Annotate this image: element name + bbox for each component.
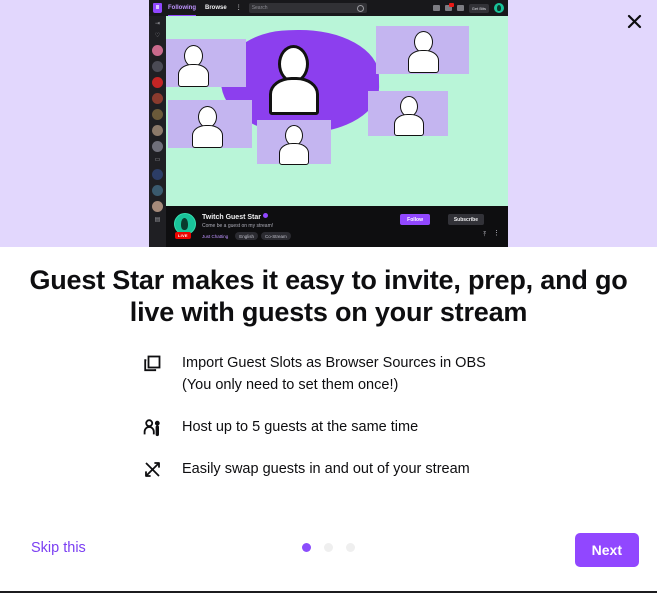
channel-name-text: Twitch Guest Star: [202, 214, 261, 221]
guest-slot: [168, 100, 252, 148]
preview-nav-following: Following: [168, 5, 196, 11]
stream-tags: Just Chatting English Co-Stream: [202, 232, 291, 240]
feature-text: Easily swap guests in and out of your st…: [182, 461, 470, 477]
sidebar-avatar: [152, 109, 163, 120]
list-item: Easily swap guests in and out of your st…: [140, 458, 540, 480]
host-avatar-silhouette: [266, 34, 336, 114]
swap-icon: [140, 458, 164, 479]
preview-nav-actions: Get Bits: [433, 3, 504, 13]
pagination-dots: [0, 543, 657, 552]
guest-slot: [166, 39, 246, 87]
people-icon: [140, 416, 164, 437]
sidebar-avatar: [152, 77, 163, 88]
stream-category: Just Chatting: [202, 232, 232, 240]
preview-nav-overflow-icon: ⋮: [236, 6, 242, 11]
next-button[interactable]: Next: [575, 533, 639, 567]
preview-channel-info: LIVE Twitch Guest Star Come be a guest o…: [166, 206, 508, 247]
live-badge: LIVE: [175, 232, 191, 239]
stream-tag: English: [235, 232, 258, 240]
sidebar-avatar: [152, 125, 163, 136]
guest-avatar-silhouette: [166, 39, 246, 87]
video-icon: ▭: [153, 157, 162, 164]
sidebar-avatar: [152, 45, 163, 56]
sidebar-avatar: [152, 93, 163, 104]
stream-preview-image: Following Browse ⋮ Search Get Bits ⇥ ♡: [149, 0, 508, 247]
follow-button: Follow: [400, 214, 430, 225]
page-title: Guest Star makes it easy to invite, prep…: [28, 264, 629, 328]
stream-title: Come be a guest on my stream!: [202, 223, 273, 229]
preview-search-placeholder: Search: [252, 5, 357, 11]
guest-avatar-silhouette: [368, 91, 448, 136]
preview-stream-canvas: [166, 16, 508, 206]
pagination-dot-1[interactable]: [302, 543, 311, 552]
guest-avatar-silhouette: [168, 100, 252, 148]
sidebar-avatar: [152, 185, 163, 196]
copy-icon: [140, 352, 164, 373]
preview-search-input: Search: [249, 3, 367, 13]
sidebar-avatar: [152, 61, 163, 72]
preview-left-sidebar: ⇥ ♡ ▭ ▤: [149, 16, 166, 247]
more-options-icon: ⋮: [493, 230, 500, 237]
channel-name: Twitch Guest Star: [202, 213, 268, 221]
guest-slot: [376, 26, 469, 74]
collapse-sidebar-icon: ⇥: [153, 21, 162, 28]
list-item: Import Guest Slots as Browser Sources in…: [140, 352, 540, 396]
subscribe-button: Subscribe: [448, 214, 484, 225]
preview-top-nav: Following Browse ⋮ Search Get Bits: [149, 0, 508, 16]
close-button[interactable]: [621, 8, 647, 34]
hero-banner: Following Browse ⋮ Search Get Bits ⇥ ♡: [0, 0, 657, 247]
twitch-logo-icon: [153, 3, 162, 13]
stream-tag: Co-Stream: [261, 232, 291, 240]
notifications-icon: [445, 5, 452, 11]
pagination-dot-2[interactable]: [324, 543, 333, 552]
feature-subtext: (You only need to set them once!): [182, 374, 486, 396]
feature-list: Import Guest Slots as Browser Sources in…: [140, 352, 540, 480]
search-icon: [357, 5, 364, 12]
sidebar-avatar: [152, 169, 163, 180]
more-icon: ▤: [153, 217, 162, 224]
sidebar-avatar: [152, 141, 163, 152]
preview-get-bits-button: Get Bits: [469, 4, 489, 13]
feature-text: Import Guest Slots as Browser Sources in…: [182, 355, 486, 371]
preview-user-avatar: [494, 3, 504, 13]
pagination-dot-3[interactable]: [346, 543, 355, 552]
guest-avatar-silhouette: [257, 120, 331, 164]
followed-heart-icon: ♡: [153, 33, 162, 40]
feature-text: Host up to 5 guests at the same time: [182, 419, 418, 435]
whispers-icon: [457, 5, 464, 11]
sidebar-avatar: [152, 201, 163, 212]
preview-nav-browse: Browse: [205, 5, 227, 11]
verified-badge-icon: [263, 213, 268, 218]
list-item-text: Easily swap guests in and out of your st…: [182, 458, 470, 480]
guest-slot: [368, 91, 448, 136]
list-item: Host up to 5 guests at the same time: [140, 416, 540, 438]
list-item-text: Host up to 5 guests at the same time: [182, 416, 418, 438]
prime-crown-icon: [433, 5, 440, 11]
guest-avatar-silhouette: [376, 26, 469, 74]
share-icon: ⤒: [483, 232, 486, 239]
list-item-text: Import Guest Slots as Browser Sources in…: [182, 352, 486, 396]
guest-slot: [257, 120, 331, 164]
